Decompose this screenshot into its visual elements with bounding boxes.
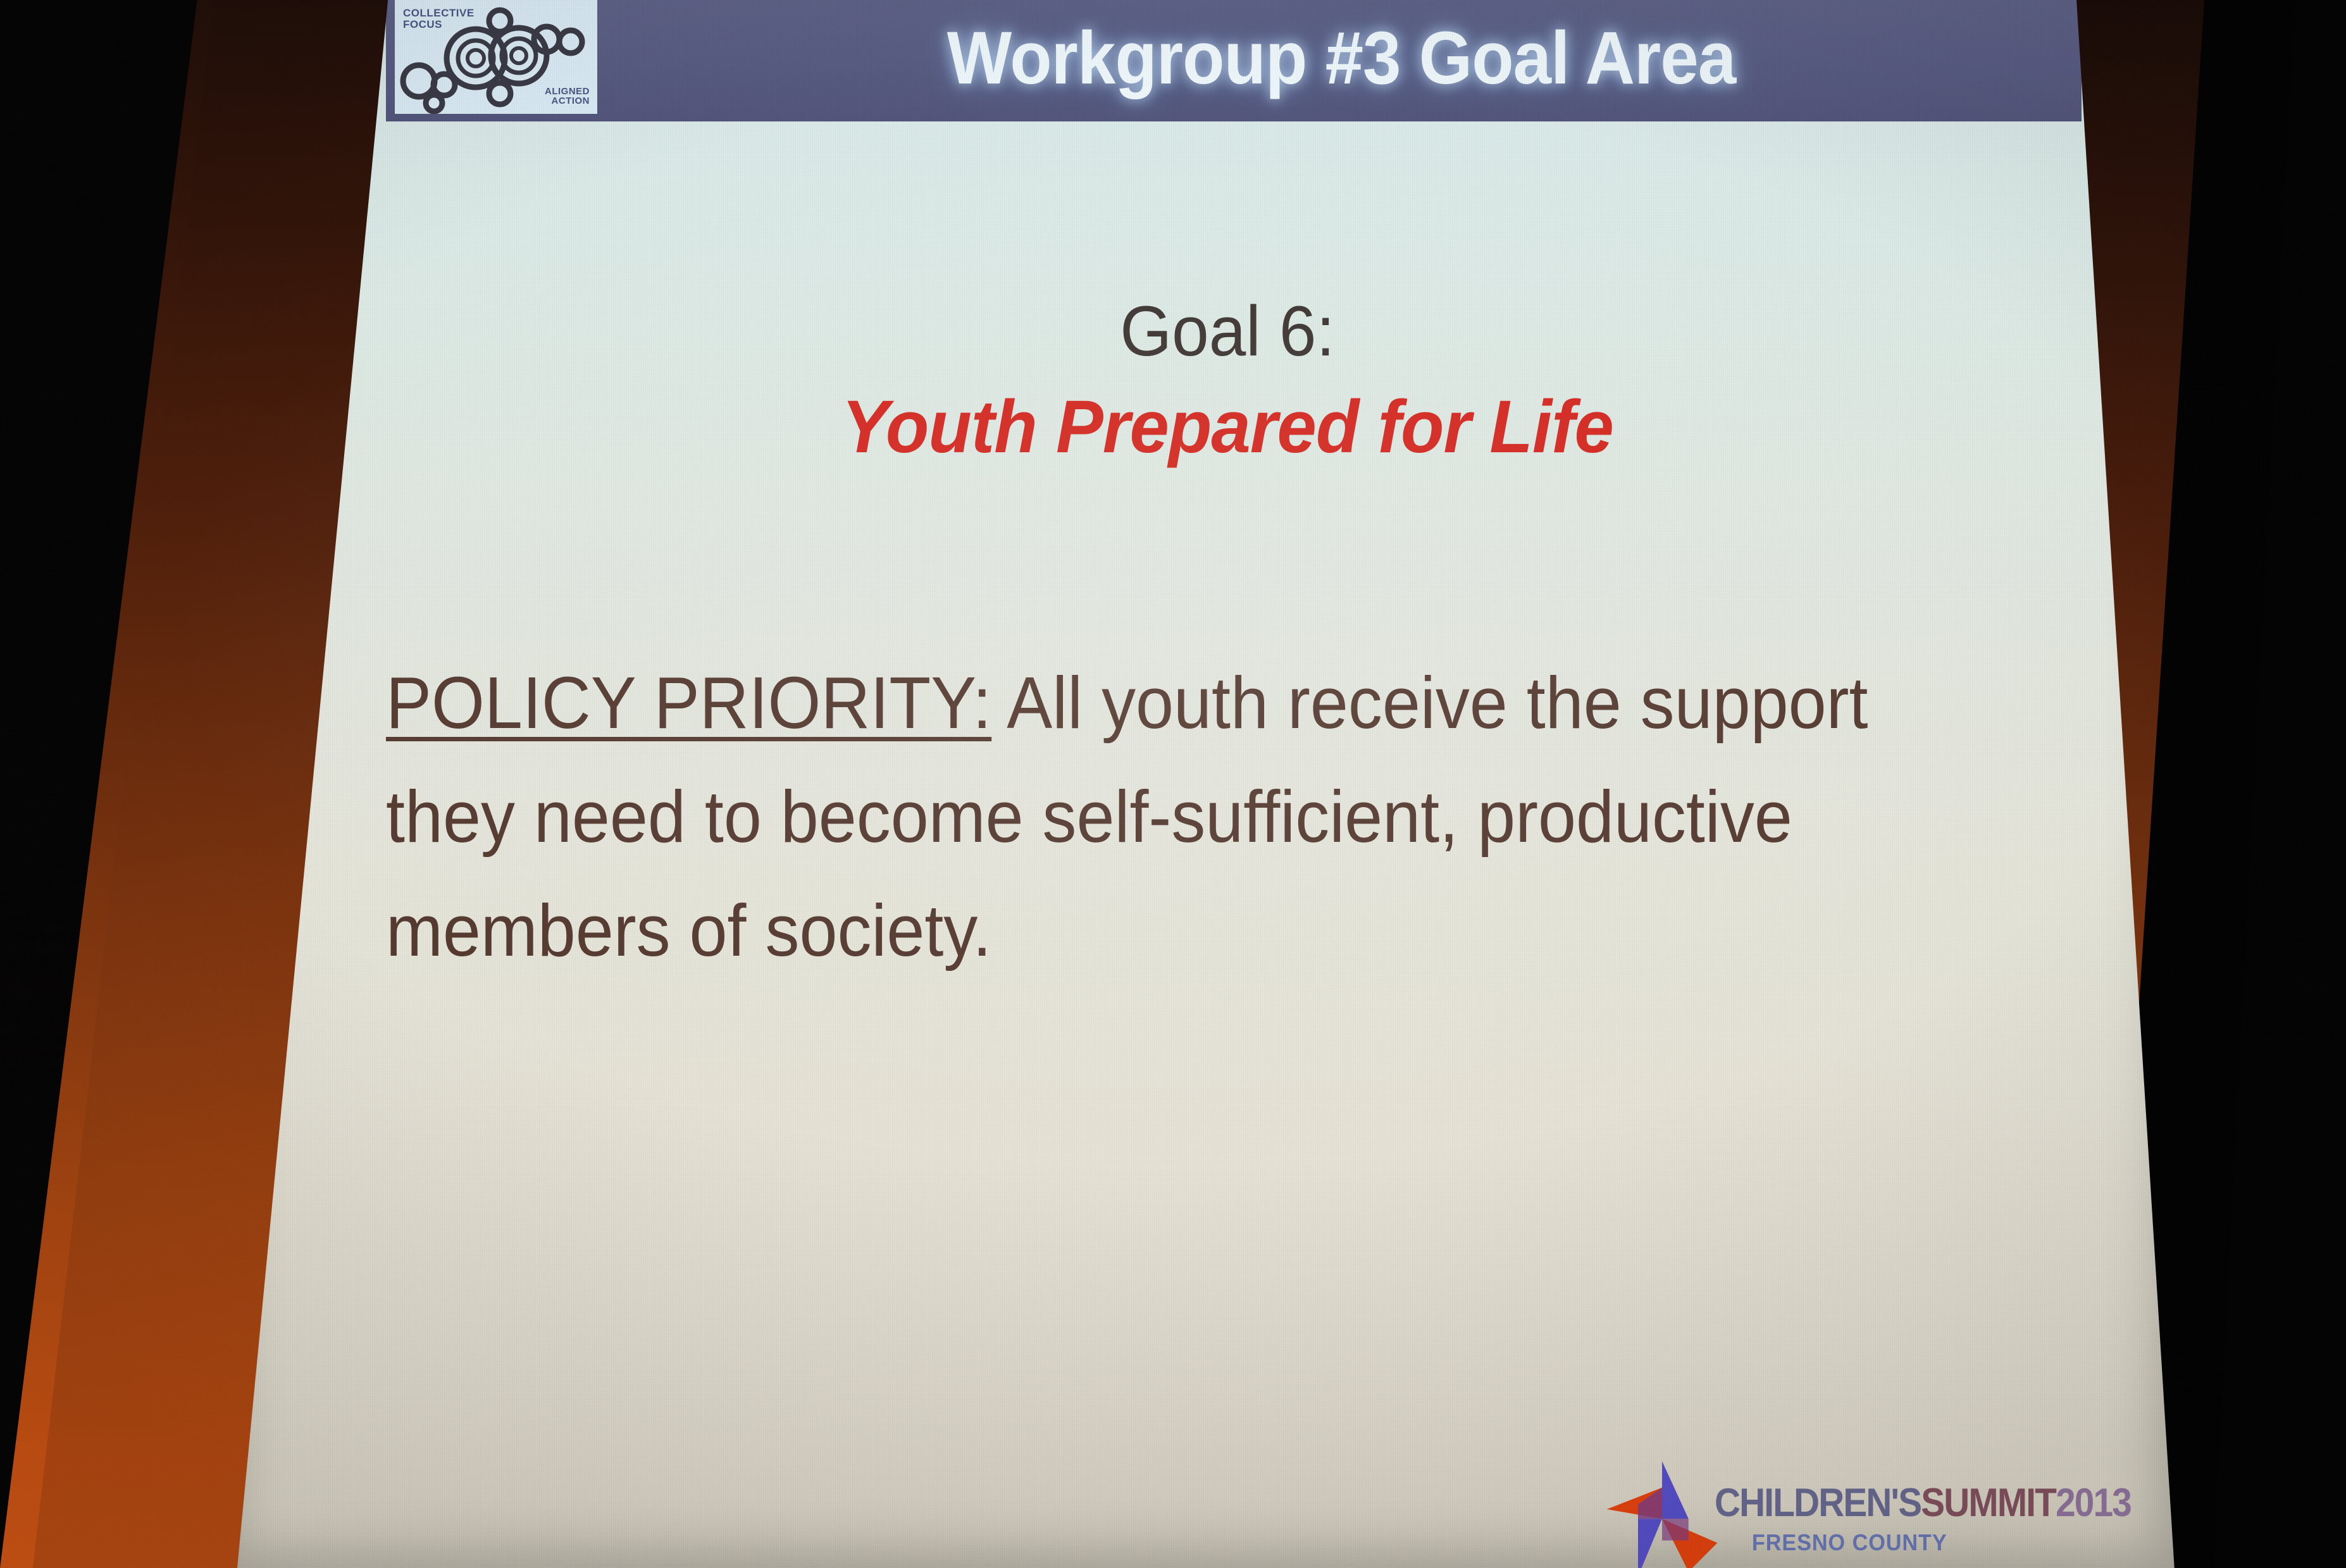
summit-brand-line: CHILDREN'SSUMMIT2013 xyxy=(1715,1480,2033,1526)
page-title: Workgroup #3 Goal Area xyxy=(672,0,2011,121)
summit-brand-summit: SUMMIT xyxy=(1921,1481,2056,1525)
summit-wordmark: CHILDREN'SSUMMIT2013 FRESNO COUNTY xyxy=(1715,1480,2069,1556)
policy-priority-label: POLICY PRIORITY: xyxy=(386,662,991,744)
goal-heading-block: Goal 6: Youth Prepared for Life xyxy=(399,292,2056,469)
summit-brand-year: 2013 xyxy=(2056,1481,2131,1525)
logo-aligned-action-label: ALIGNED ACTION xyxy=(514,87,590,107)
goal-number-label: Goal 6: xyxy=(449,292,2007,370)
projection-screen: COLLECTIVE FOCUS xyxy=(209,0,2183,1568)
goal-name-label: Youth Prepared for Life xyxy=(440,386,2015,469)
summit-brand-childrens: CHILDREN'S xyxy=(1715,1481,1921,1525)
collective-focus-logo: COLLECTIVE FOCUS xyxy=(395,0,597,114)
slide-canvas: COLLECTIVE FOCUS xyxy=(209,0,2183,1568)
projected-slide-photo: COLLECTIVE FOCUS xyxy=(0,0,2346,1568)
slide-header-bar: COLLECTIVE FOCUS xyxy=(386,0,2082,121)
policy-priority-paragraph: POLICY PRIORITY: All youth receive the s… xyxy=(386,646,1975,987)
summit-subtitle: FRESNO COUNTY xyxy=(1715,1529,2051,1556)
childrens-summit-logo: CHILDREN'SSUMMIT2013 FRESNO COUNTY xyxy=(1602,1450,2070,1568)
pinwheel-icon xyxy=(1602,1455,1722,1568)
